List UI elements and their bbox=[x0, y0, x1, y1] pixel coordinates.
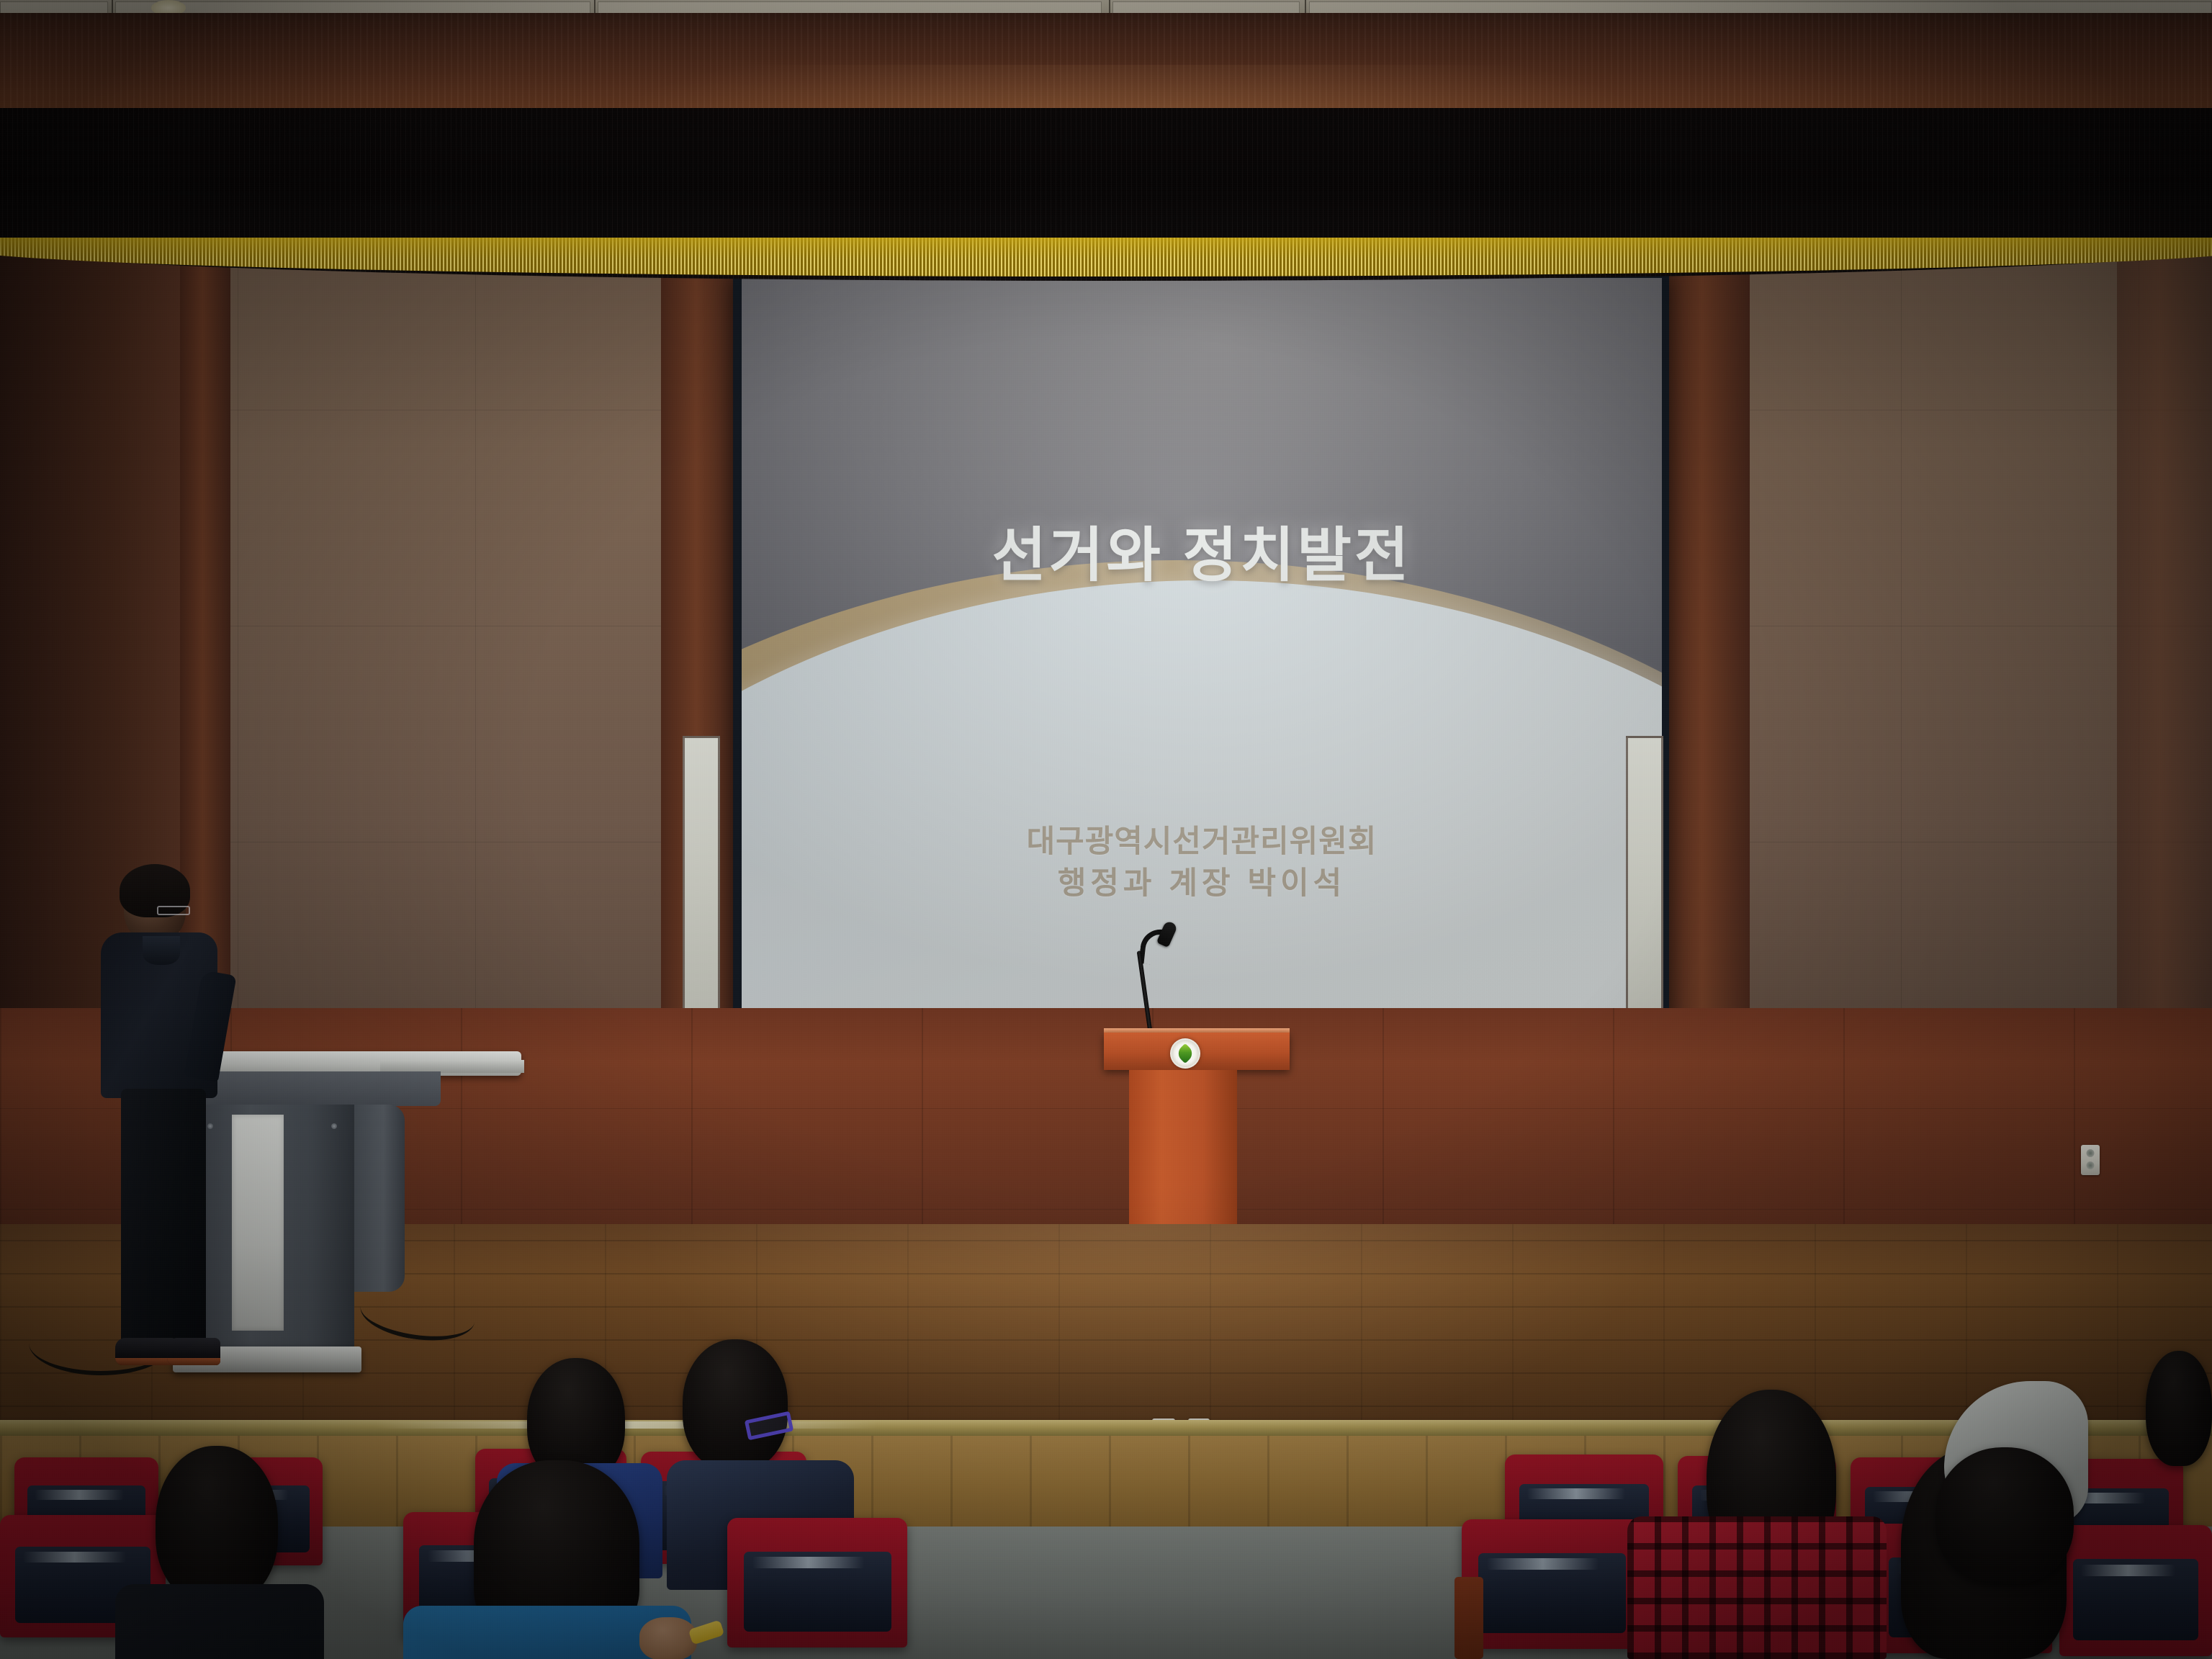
seat-highlight bbox=[35, 1490, 124, 1500]
seat[interactable] bbox=[727, 1518, 907, 1647]
attendee-hand bbox=[639, 1617, 697, 1659]
socket-lower bbox=[2087, 1161, 2095, 1169]
acoustic-light-panel-right bbox=[1626, 736, 1663, 1027]
green-leaf-emblem-icon bbox=[1170, 1038, 1200, 1069]
acoustic-light-panel-left bbox=[683, 736, 720, 1027]
stage-wall-column bbox=[2117, 245, 2212, 1058]
presenter-collar bbox=[143, 936, 180, 965]
presenter-shoe-right bbox=[167, 1338, 220, 1365]
lectern-screw bbox=[331, 1123, 337, 1129]
seat[interactable] bbox=[2059, 1525, 2212, 1656]
slide-title: 선거와 정치발전 bbox=[742, 507, 1662, 593]
presenter-legs bbox=[121, 1089, 206, 1348]
seat-armrest bbox=[1455, 1577, 1483, 1659]
seat-highlight bbox=[752, 1557, 864, 1568]
slide-subtitle-line-2: 행정과 계장 박이석 bbox=[742, 858, 1662, 903]
eyeglasses-icon bbox=[157, 906, 190, 915]
attendee-white-hood-head bbox=[1935, 1447, 2074, 1584]
auditorium-scene: 선거와 정치발전 대구광역시선거관리위원회 행정과 계장 박이석 bbox=[0, 0, 2212, 1659]
seat-highlight bbox=[1527, 1488, 1625, 1498]
seat-highlight bbox=[1487, 1558, 1599, 1570]
seat-highlight bbox=[23, 1552, 126, 1563]
stage-edge-highlight bbox=[374, 1421, 878, 1429]
attendee-right-rear-head bbox=[2146, 1351, 2212, 1466]
seat-highlight bbox=[2081, 1565, 2175, 1576]
attendee-front-left-body bbox=[115, 1584, 324, 1659]
attendee-plaid-body bbox=[1627, 1516, 1887, 1659]
av-lectern-front-panel bbox=[232, 1115, 284, 1331]
av-lectern-side-shelf bbox=[351, 1105, 405, 1292]
lectern-screw bbox=[207, 1123, 213, 1129]
socket-upper bbox=[2087, 1149, 2095, 1157]
shoe-sole bbox=[167, 1358, 220, 1365]
projection-screen: 선거와 정치발전 대구광역시선거관리위원회 행정과 계장 박이석 bbox=[742, 278, 1662, 1028]
stage-wall-column bbox=[1663, 245, 1750, 1058]
seat[interactable] bbox=[1462, 1519, 1642, 1649]
slide-light-swoosh bbox=[742, 580, 1662, 1028]
stage-edge-nosing bbox=[0, 1420, 2212, 1436]
attendee-front-left-head bbox=[156, 1446, 278, 1604]
right-wall-outlet-icon[interactable] bbox=[2081, 1145, 2100, 1175]
attendee-glasses-head bbox=[683, 1339, 788, 1470]
stage-floor-sheen bbox=[648, 1224, 1656, 1440]
slide-subtitle-line-1: 대구광역시선거관리위원회 bbox=[742, 817, 1662, 861]
leaf-shape bbox=[1175, 1043, 1195, 1064]
